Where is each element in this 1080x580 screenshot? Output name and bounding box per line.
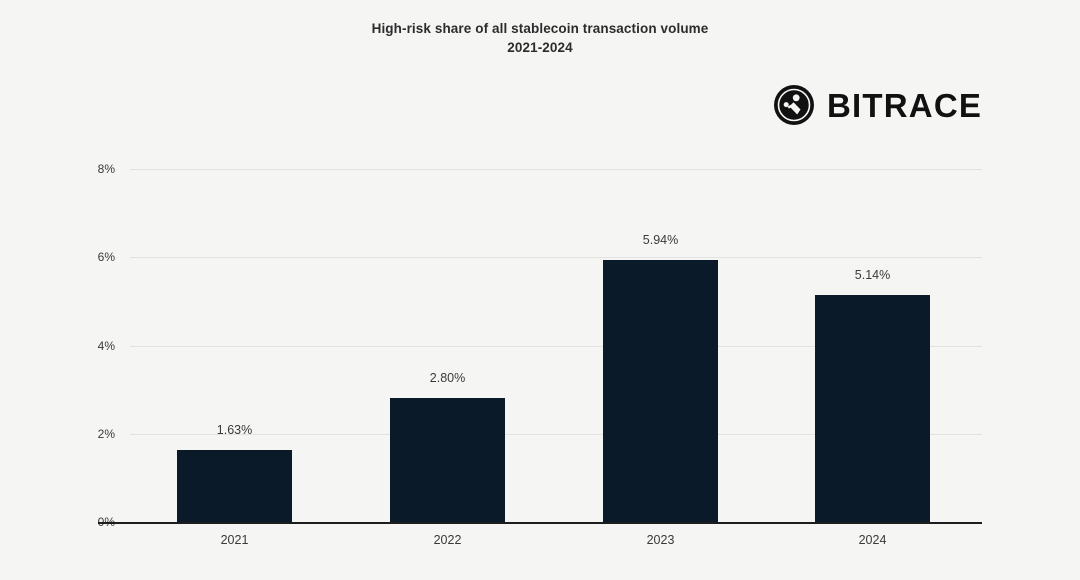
chart-title: High-risk share of all stablecoin transa… <box>0 20 1080 57</box>
x-tick-label-2022: 2022 <box>378 533 518 547</box>
y-tick-label-8: 8% <box>55 162 115 176</box>
bitrace-globe-icon <box>773 84 815 126</box>
y-tick-label-2: 2% <box>55 427 115 441</box>
x-axis-line <box>98 522 982 524</box>
bar-value-2024: 5.14% <box>803 268 943 282</box>
gridline-6 <box>130 257 982 258</box>
chart-canvas: High-risk share of all stablecoin transa… <box>0 0 1080 580</box>
gridline-8 <box>130 169 982 170</box>
chart-title-line-1: High-risk share of all stablecoin transa… <box>0 20 1080 39</box>
x-tick-label-2024: 2024 <box>803 533 943 547</box>
bitrace-logo: BITRACE <box>773 84 982 126</box>
bar-value-2021: 1.63% <box>165 423 305 437</box>
chart-title-line-2: 2021-2024 <box>0 39 1080 58</box>
plot-area: 1.63% 2.80% 5.94% 5.14% 2021 2022 2023 2… <box>130 169 982 522</box>
bar-value-2022: 2.80% <box>378 371 518 385</box>
bar-2023[interactable] <box>603 260 718 522</box>
bar-2024[interactable] <box>815 295 930 522</box>
y-tick-label-4: 4% <box>55 339 115 353</box>
bar-2021[interactable] <box>177 450 292 522</box>
y-tick-label-6: 6% <box>55 250 115 264</box>
bitrace-wordmark: BITRACE <box>827 89 982 122</box>
x-tick-label-2021: 2021 <box>165 533 305 547</box>
x-tick-label-2023: 2023 <box>591 533 731 547</box>
bar-value-2023: 5.94% <box>591 233 731 247</box>
bar-2022[interactable] <box>390 398 505 522</box>
